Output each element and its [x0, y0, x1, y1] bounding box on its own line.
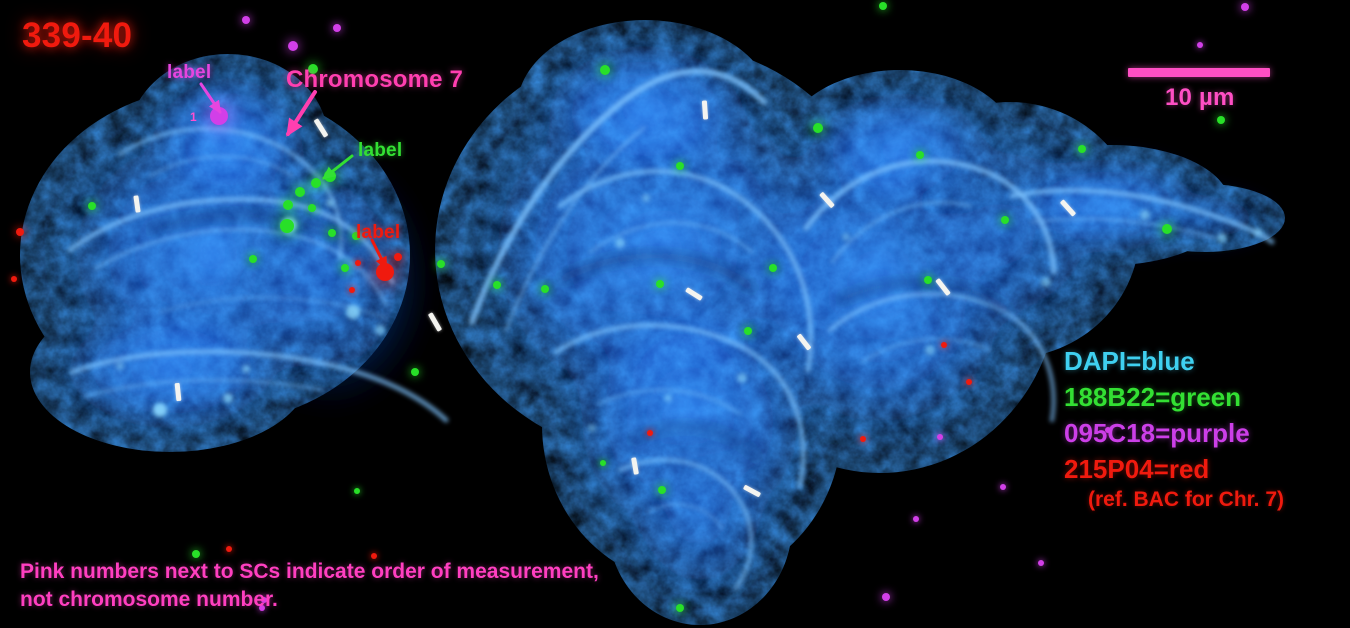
legend-item-095c18: 095C18=purple: [1064, 416, 1284, 452]
green-arrow: [324, 156, 352, 178]
legend-item-215p04: 215P04=red: [1064, 452, 1284, 488]
page-title: 339-40: [22, 16, 132, 56]
measurement-order-number: 1: [190, 110, 197, 124]
red-label-text: label: [356, 222, 400, 244]
scale-bar: [1128, 68, 1270, 77]
purple-label-text: label: [167, 62, 211, 84]
figure-caption: Pink numbers next to SCs indicate order …: [20, 558, 599, 614]
red-arrow: [372, 240, 386, 268]
legend-item-dapi: DAPI=blue: [1064, 344, 1284, 380]
scale-bar-label: 10 µm: [1165, 84, 1235, 112]
chr7-arrow: [288, 92, 315, 134]
caption-line-2: not chromosome number.: [20, 586, 599, 614]
legend-subnote: (ref. BAC for Chr. 7): [1064, 488, 1284, 512]
chromosome-7-label: Chromosome 7: [286, 66, 463, 94]
purple-arrow: [201, 84, 220, 112]
legend-item-188b22: 188B22=green: [1064, 380, 1284, 416]
caption-line-1: Pink numbers next to SCs indicate order …: [20, 558, 599, 586]
channel-legend: DAPI=blue 188B22=green 095C18=purple 215…: [1064, 344, 1284, 512]
green-label-text: label: [358, 140, 402, 162]
micrograph-canvas: 339-40 label 1 Chromosome 7 label label …: [0, 0, 1350, 628]
annotation-arrows: [0, 0, 1350, 628]
